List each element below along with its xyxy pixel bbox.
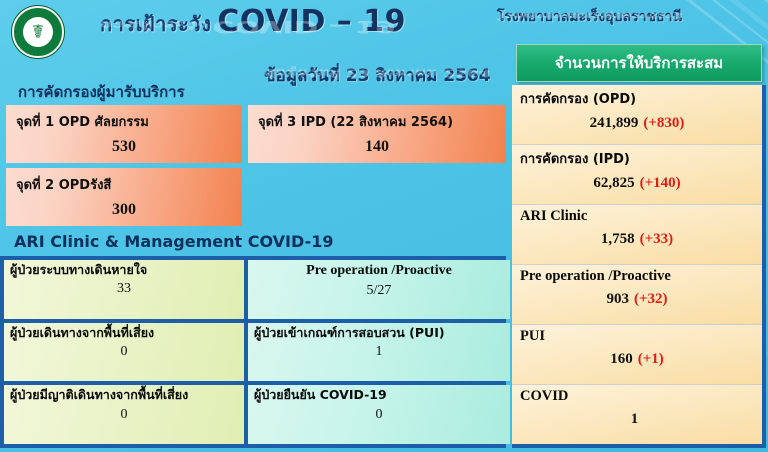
cumulative-row-pui-values: 160(+1) (520, 350, 754, 368)
screening-point-1-label: จุดที่ 1 OPD ศัลยกรรม (16, 111, 232, 132)
hospital-name: โรงพยาบาลมะเร็งอุบลราชธานี (497, 6, 682, 28)
cumulative-row-opd-values: 241,899(+830) (520, 114, 754, 132)
ari-cell-respiratory: ผู้ป่วยระบบทางเดินหายใจ 33 (4, 260, 244, 319)
cumulative-row-ari-clinic-delta: (+33) (640, 231, 674, 247)
screening-point-3-card: จุดที่ 3 IPD (22 สิงหาคม 2564) 140 (248, 105, 506, 163)
cumulative-row-ipd: การคัดกรอง (IPD) 62,825(+140) (512, 145, 762, 205)
ari-table: ผู้ป่วยระบบทางเดินหายใจ 33 Pre operation… (0, 256, 506, 448)
cumulative-row-preop-proactive-values: 903(+32) (520, 290, 754, 308)
ari-section-heading: ARI Clinic & Management COVID-19 (14, 232, 333, 251)
cumulative-row-ari-clinic-value: 1,758 (601, 231, 635, 247)
cumulative-row-opd-label: การคัดกรอง (OPD) (520, 88, 754, 109)
cumulative-panel-heading: จำนวนการให้บริการสะสม (555, 51, 723, 75)
cumulative-row-covid-values: 1 (520, 410, 754, 428)
ari-cell-relative-risk-travel-label: ผู้ป่วยมีญาติเดินทางจากพื้นที่เสี่ยง (10, 388, 238, 402)
cumulative-row-pui-value: 160 (610, 351, 633, 367)
ari-cell-relative-risk-travel: ผู้ป่วยมีญาติเดินทางจากพื้นที่เสี่ยง 0 (4, 385, 244, 444)
cumulative-row-ipd-label: การคัดกรอง (IPD) (520, 148, 754, 169)
cumulative-row-preop-proactive-value: 903 (606, 291, 629, 307)
ari-cell-risk-area-travel-label: ผู้ป่วยเดินทางจากพื้นที่เสี่ยง (10, 326, 238, 340)
cumulative-row-opd-delta: (+830) (643, 115, 684, 131)
cumulative-table: การคัดกรอง (OPD) 241,899(+830) การคัดกรอ… (512, 85, 766, 448)
ari-cell-preop-proactive-label: Pre operation /Proactive (254, 263, 504, 279)
ari-cell-confirmed-covid-value: 0 (254, 407, 504, 423)
ari-cell-respiratory-value: 33 (10, 281, 238, 297)
cumulative-row-pui-label: PUI (520, 328, 754, 345)
cumulative-row-covid-label: COVID (520, 388, 754, 405)
ari-cell-pui: ผู้ป่วยเข้าเกณฑ์การสอบสวน (PUI) 1 (248, 323, 510, 382)
cumulative-row-covid: COVID 1 (512, 385, 762, 444)
page-title-thai: การเฝ้าระวัง (100, 12, 211, 36)
screening-point-3-label: จุดที่ 3 IPD (22 สิงหาคม 2564) (258, 111, 496, 132)
page-title: การเฝ้าระวังCOVID – 19 (100, 4, 406, 40)
cumulative-row-preop-proactive: Pre operation /Proactive 903(+32) (512, 265, 762, 325)
cumulative-row-covid-value: 1 (631, 411, 639, 427)
screening-point-1-card: จุดที่ 1 OPD ศัลยกรรม 530 (6, 105, 242, 163)
ari-cell-risk-area-travel: ผู้ป่วยเดินทางจากพื้นที่เสี่ยง 0 (4, 323, 244, 382)
cumulative-row-ari-clinic-label: ARI Clinic (520, 208, 754, 225)
cumulative-row-opd: การคัดกรอง (OPD) 241,899(+830) (512, 85, 762, 145)
cumulative-row-preop-proactive-delta: (+32) (634, 291, 668, 307)
cumulative-row-opd-value: 241,899 (590, 115, 639, 131)
ari-cell-preop-proactive-value: 5/27 (254, 283, 504, 299)
cumulative-row-ari-clinic: ARI Clinic 1,758(+33) (512, 205, 762, 265)
cumulative-row-pui: PUI 160(+1) (512, 325, 762, 385)
screening-point-3-value: 140 (258, 138, 496, 156)
screening-point-2-value: 300 (16, 201, 232, 219)
data-date: ข้อมูลวันที่ 23 สิงหาคม 2564 (264, 62, 491, 89)
page-title-en: COVID – 19 (217, 4, 406, 39)
ari-cell-preop-proactive: Pre operation /Proactive 5/27 (248, 260, 510, 319)
cumulative-panel-header: จำนวนการให้บริการสะสม (516, 44, 762, 82)
screening-point-2-label: จุดที่ 2 OPDรังสี (16, 174, 232, 195)
cumulative-row-ari-clinic-values: 1,758(+33) (520, 230, 754, 248)
ministry-of-public-health-logo-icon: ☤ (12, 6, 64, 58)
screening-point-1-value: 530 (16, 138, 232, 156)
ari-cell-pui-label: ผู้ป่วยเข้าเกณฑ์การสอบสวน (PUI) (254, 326, 504, 340)
ari-cell-respiratory-label: ผู้ป่วยระบบทางเดินหายใจ (10, 263, 238, 277)
cumulative-row-pui-delta: (+1) (638, 351, 664, 367)
ari-cell-risk-area-travel-value: 0 (10, 344, 238, 360)
ari-cell-relative-risk-travel-value: 0 (10, 407, 238, 423)
screening-section-heading: การคัดกรองผู้มารับบริการ (18, 80, 185, 104)
ari-cell-confirmed-covid-label: ผู้ป่วยยืนยัน COVID-19 (254, 388, 504, 402)
cumulative-row-ipd-values: 62,825(+140) (520, 174, 754, 192)
ari-cell-confirmed-covid: ผู้ป่วยยืนยัน COVID-19 0 (248, 385, 510, 444)
ari-cell-pui-value: 1 (254, 344, 504, 360)
cumulative-row-preop-proactive-label: Pre operation /Proactive (520, 268, 754, 285)
cumulative-row-ipd-delta: (+140) (640, 175, 681, 191)
cumulative-row-ipd-value: 62,825 (593, 175, 634, 191)
screening-point-2-card: จุดที่ 2 OPDรังสี 300 (6, 168, 242, 226)
slide-canvas: ☤ การเฝ้าระวังCOVID – 19 การเฝ้าระวังCOV… (0, 0, 768, 452)
caduceus-icon: ☤ (23, 17, 53, 47)
